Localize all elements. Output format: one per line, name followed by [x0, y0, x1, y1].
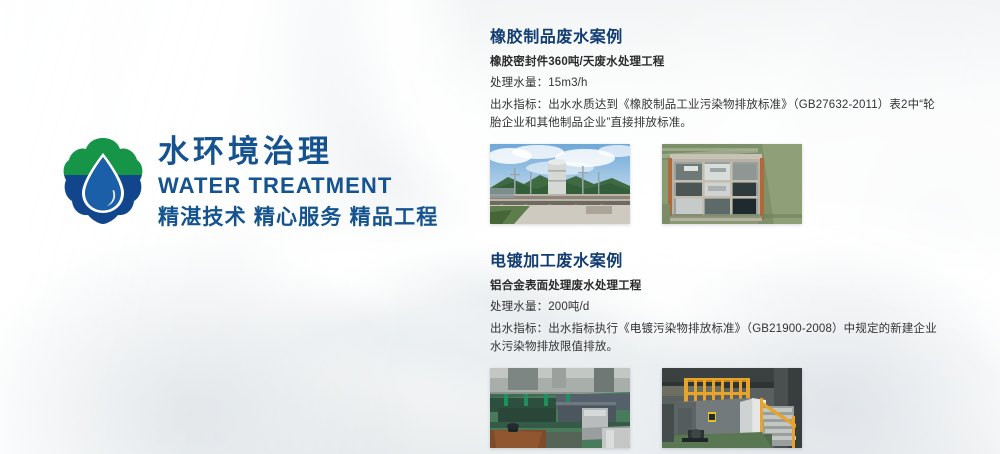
case-thumbnail-row	[490, 144, 960, 224]
case-title: 橡胶制品废水案例	[490, 28, 960, 47]
case-capacity: 处理水量：200吨/d	[490, 299, 960, 317]
case-study-electroplating-wastewater: 电镀加工废水案例 铝合金表面处理废水处理工程 处理水量：200吨/d 出水指标：…	[490, 252, 960, 448]
case-title: 电镀加工废水案例	[490, 252, 960, 271]
brand-logo-block: 水环境治理 WATER TREATMENT 精湛技术 精心服务 精品工程	[62, 132, 438, 231]
case-capacity: 处理水量：15m3/h	[490, 75, 960, 93]
case-studies-column: 橡胶制品废水案例 橡胶密封件360吨/天废水处理工程 处理水量：15m3/h 出…	[490, 28, 960, 448]
thumb-equipment-room-stairs[interactable]	[662, 368, 802, 448]
brand-title-cn: 水环境治理	[158, 132, 438, 171]
case-study-rubber-wastewater: 橡胶制品废水案例 橡胶密封件360吨/天废水处理工程 处理水量：15m3/h 出…	[490, 28, 960, 224]
case-thumbnail-row	[490, 368, 960, 448]
water-drop-flower-logo-icon	[62, 135, 144, 227]
thumb-aeration-basins-aerial[interactable]	[662, 144, 802, 224]
thumb-wastewater-plant-tank[interactable]	[490, 144, 630, 224]
brand-title-en: WATER TREATMENT	[158, 172, 438, 201]
brand-slogan: 精湛技术 精心服务 精品工程	[158, 204, 438, 231]
thumb-indoor-treatment-tanks[interactable]	[490, 368, 630, 448]
case-subtitle: 铝合金表面处理废水处理工程	[490, 279, 960, 293]
case-discharge-standard: 出水指标：出水指标执行《电镀污染物排放标准》（GB21900-2008）中规定的…	[490, 321, 945, 357]
case-discharge-standard: 出水指标：出水水质达到《橡胶制品工业污染物排放标准》（GB27632-2011）…	[490, 97, 945, 133]
brand-text-group: 水环境治理 WATER TREATMENT 精湛技术 精心服务 精品工程	[158, 132, 438, 231]
case-subtitle: 橡胶密封件360吨/天废水处理工程	[490, 55, 960, 69]
